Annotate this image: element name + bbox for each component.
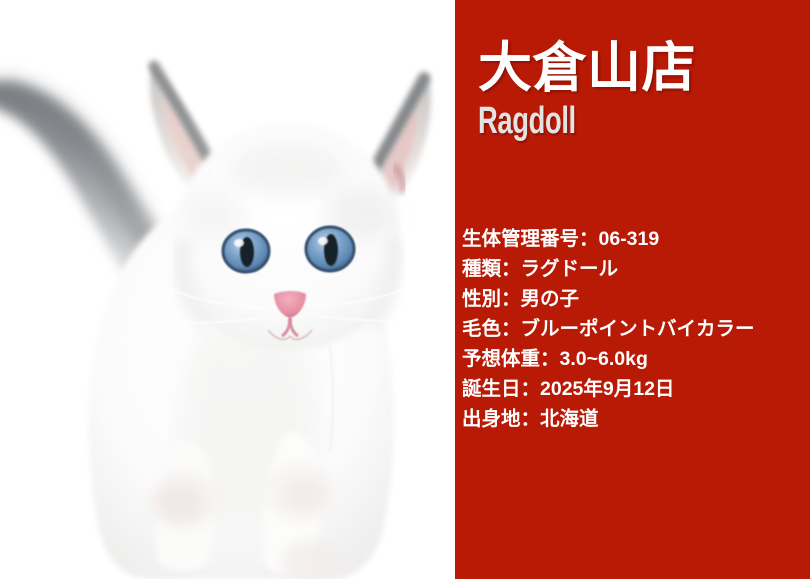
store-title: 大倉山店	[478, 38, 798, 98]
detail-row-breed: 種類：ラグドール	[462, 254, 810, 284]
kitten-photo	[0, 0, 455, 579]
detail-row-expected-weight: 予想体重：3.0~6.0kg	[462, 344, 810, 374]
pet-profile-card: 大倉山店 Ragdoll 生体管理番号：06-319 種類：ラグドール 性別：男…	[0, 0, 810, 579]
info-panel: 大倉山店 Ragdoll 生体管理番号：06-319 種類：ラグドール 性別：男…	[455, 0, 810, 579]
breed-subtitle: Ragdoll	[478, 102, 708, 140]
detail-row-gender: 性別：男の子	[462, 284, 810, 314]
detail-row-birthday: 誕生日：2025年9月12日	[462, 374, 810, 404]
headline-block: 大倉山店 Ragdoll	[478, 38, 798, 140]
detail-row-management-number: 生体管理番号：06-319	[462, 224, 810, 254]
kitten-illustration	[0, 0, 455, 579]
pet-details-list: 生体管理番号：06-319 種類：ラグドール 性別：男の子 毛色：ブルーポイント…	[462, 224, 810, 434]
detail-row-origin: 出身地：北海道	[462, 404, 810, 434]
detail-row-coat-color: 毛色：ブルーポイントバイカラー	[462, 314, 810, 344]
